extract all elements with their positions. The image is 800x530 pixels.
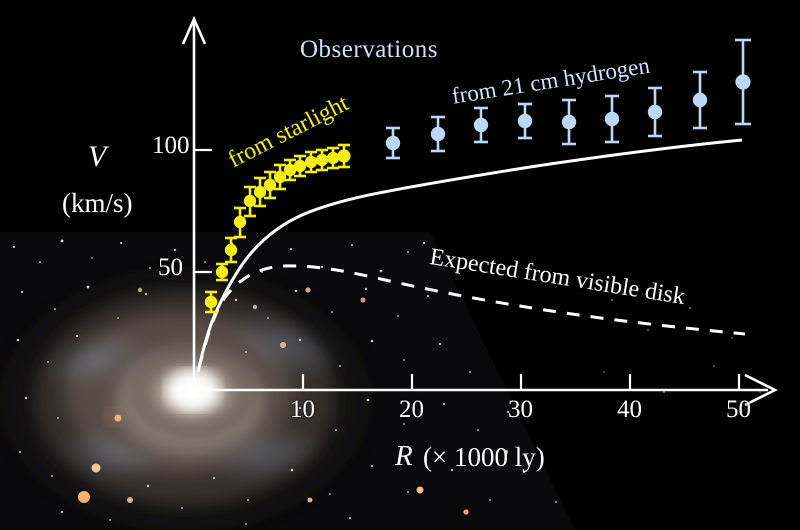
y-axis-title-variable: V [88,140,106,174]
x-tick-label-10: 10 [290,396,315,424]
x-tick-label-50: 50 [726,396,751,424]
x-tick-label-40: 40 [617,396,642,424]
starlight-annotation: from starlight [224,90,353,174]
y-tick-label-100: 100 [152,132,190,160]
x-axis-title-units: (× 1000 ly) [423,442,545,473]
y-tick-label-50: 50 [158,254,183,282]
x-axis-title-variable: R [395,440,413,473]
x-tick-label-30: 30 [508,396,533,424]
y-axis-title-units: (km/s) [62,188,133,219]
hydrogen-annotation: from 21 cm hydrogen [450,53,652,110]
x-tick-label-20: 20 [399,396,424,424]
observations-label: Observations [300,36,438,64]
figure-canvas: 100 50 10 20 30 40 50 V (km/s) R (× 1000… [0,0,800,530]
labels-layer: 100 50 10 20 30 40 50 V (km/s) R (× 1000… [0,0,800,530]
expected-annotation: Expected from visible disk [428,244,687,311]
